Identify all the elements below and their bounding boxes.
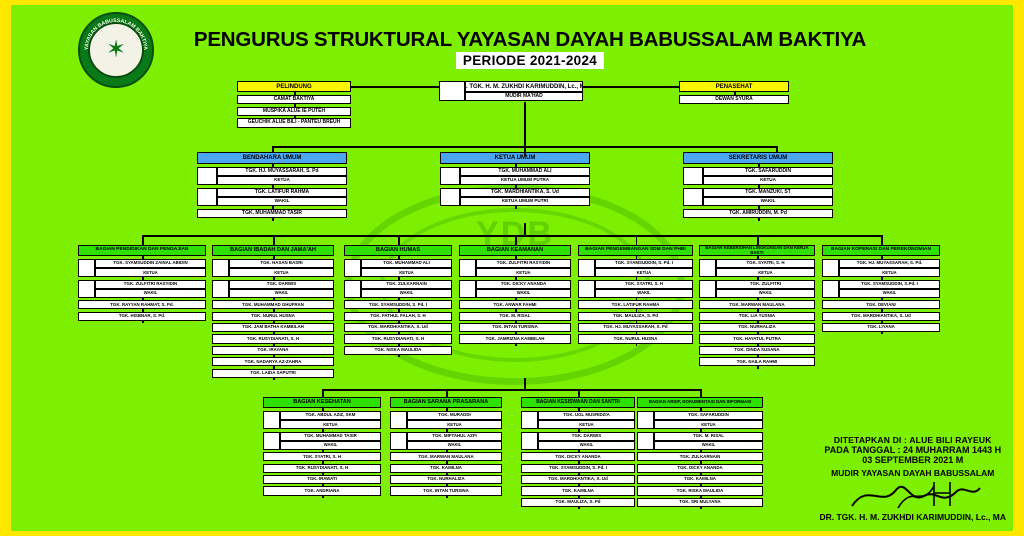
connector-line [322, 496, 324, 498]
dept-member: TGK. JAM BATHA KAMBILAH [212, 323, 334, 332]
dept-member: TGK. MAULIZA, S. Pd [578, 312, 693, 321]
dept-member-role: WAKIL [361, 289, 452, 298]
connector-line [273, 277, 275, 279]
connector-line [398, 321, 400, 323]
connector-line [398, 277, 400, 279]
dept-member-role: KETUA [361, 268, 452, 277]
connector-line [446, 461, 448, 463]
dept-member-name: TGK. MURADDI [407, 411, 502, 420]
tier2-member-role: KETUA [217, 176, 347, 185]
connector-line [515, 164, 517, 167]
connector-line [142, 235, 144, 245]
dept-brace [344, 259, 361, 277]
connector-line [636, 277, 638, 279]
pimpinan-name: DR. TGK. H. M. ZUKHDI KARIMUDDIN, Lc., M… [465, 81, 583, 92]
dept-brace [459, 259, 476, 277]
dept-member: TGK. RUSYDIANATI, S. H [212, 334, 334, 343]
dept-member-role: KETUA [407, 420, 502, 429]
dept-member: TGK. JAMRIZNA KAMBILAH [459, 334, 571, 343]
dept-header: BAGIAN PENDIDIKAN DAN PENGAJIAN [78, 245, 206, 256]
dept-member-name: TGK. MUHAMMAD TASIR [280, 432, 381, 441]
connector-line [757, 321, 759, 323]
connector-line [757, 298, 759, 300]
dept-member-name: TGK. SYATRI, S. H [595, 280, 693, 289]
dept-member-name: TGK. ZULFITRI [716, 280, 815, 289]
dept-header: BAGIAN ARSIP, DOKUMENTASI DAN INFORMASI [637, 397, 763, 408]
tier2-member-name: TGK. MARDHIANTIKA, S. Ud [460, 188, 590, 197]
frame-border-left [0, 0, 11, 536]
connector-line [142, 256, 144, 259]
connector-line [515, 235, 517, 245]
dept-header: BAGIAN KESISWAAN DAN SANTRI [521, 397, 635, 408]
dept-brace [78, 259, 95, 277]
tier2-header: KETUA UMUM [440, 152, 590, 164]
connector-line [515, 309, 517, 311]
dept-member: TGK. KAMILNA [390, 464, 502, 473]
dept-member: TGK. DICKY ANANDA [521, 452, 635, 461]
dept-member: TGK. IRAWATI [263, 475, 381, 484]
connector-line [583, 86, 679, 88]
dept-member: TGK. ANWAR FAHMI [459, 300, 571, 309]
tier2-brace [440, 188, 460, 206]
connector-line [322, 389, 324, 397]
tier2-member-name: TGK. MANZUKI, ST [703, 188, 833, 197]
connector-line [578, 484, 580, 486]
dept-member: TGK. DICKY ANANDA [637, 464, 763, 473]
dept-member: TGK. RUSYDIANATI, S. H [263, 464, 381, 473]
dept-member: TGK. DINDA SUSANA [699, 346, 815, 355]
connector-line [446, 429, 448, 431]
connector-line [322, 484, 324, 486]
connector-line [700, 408, 702, 411]
connector-line [446, 496, 448, 498]
dept-brace [263, 411, 280, 429]
tier2-brace [683, 188, 703, 206]
connector-line [757, 309, 759, 311]
frame-border-bottom [0, 531, 1024, 536]
dept-member-name: TGK. SYATRI, S. H [716, 259, 815, 268]
tier2-brace [197, 188, 217, 206]
dept-member-name: TGK. HASAN BASRI [229, 259, 334, 268]
dept-brace [459, 280, 476, 298]
dept-member: TGK. INTAN TURSINA [390, 486, 502, 495]
pimpinan-left-brace [439, 81, 465, 101]
connector-line [446, 484, 448, 486]
dept-brace [578, 280, 595, 298]
connector-line [446, 450, 448, 452]
dept-member: TGK. HJ. MUYASSARAH, S. Pd [578, 323, 693, 332]
dept-member: TGK. MARDHIANTIKA, S. Ud [822, 312, 940, 321]
frame-border-right [1013, 0, 1024, 536]
tier2-member: TGK. MUHAMMAD TASIR [197, 209, 347, 218]
footer-hijri-date: PADA TANGGAL : 24 MUHARRAM 1443 H [819, 445, 1006, 455]
dept-header: BAGIAN PENGEMBANGAN SDM DAN PHBI [578, 245, 693, 256]
dept-member-name: TGK. DARWIS [538, 432, 635, 441]
connector-line [351, 86, 439, 88]
dept-member-role: WAKIL [654, 441, 763, 450]
connector-line [700, 461, 702, 463]
footer-signature-block: DITETAPKAN DI : ALUE BILI RAYEUK PADA TA… [819, 435, 1006, 522]
dept-member-name: TGK. UGL MUSRIDZIA [538, 411, 635, 420]
dept-member: TGK. RUSYDIANATI, S. H [344, 334, 452, 343]
tier2-member-role: WAKIL [217, 197, 347, 206]
connector-line [700, 429, 702, 431]
dept-member-role: WAKIL [839, 289, 940, 298]
connector-line [294, 104, 296, 107]
tier2-member-name: TGK. SAFARUDDIN [703, 167, 833, 176]
connector-line [636, 256, 638, 259]
connector-line [398, 256, 400, 259]
dept-member: TGK. HAYATUL PUTRA [699, 334, 815, 343]
tier2-member: TGK. AMIRUDDIN, M. Pd [683, 209, 833, 218]
dept-member-name: TGK. ZULFITRI RASYIDIN [476, 259, 571, 268]
connector-line [294, 92, 296, 95]
connector-line [398, 332, 400, 334]
connector-line [700, 389, 702, 397]
dept-header: BAGIAN HUMAS [344, 245, 452, 256]
dept-member: TGK. NURHALIZA [390, 475, 502, 484]
connector-line [757, 277, 759, 279]
dept-member: TGK. FATHUL FALAH, S. H [344, 312, 452, 321]
connector-line [636, 235, 638, 245]
connector-line [398, 298, 400, 300]
dept-member-name: TGK. SYAMSUDDIN ZAINAL ABIDIN [95, 259, 206, 268]
dept-member: TGK. DEVIANI [822, 300, 940, 309]
dept-member-role: WAKIL [716, 289, 815, 298]
dept-member: TGK. SYAMSUDDIN, S. Pd. I [521, 464, 635, 473]
dept-member-name: TGK. SYAMSUDDIN, S. Pd. I [595, 259, 693, 268]
dept-member: TGK. NURHALIZA [699, 323, 815, 332]
connector-line [636, 298, 638, 300]
footer-signer-title: MUDIR YAYASAN DAYAH BABUSSALAM [819, 468, 1006, 478]
dept-member-role: KETUA [95, 268, 206, 277]
dept-member-role: KETUA [654, 420, 763, 429]
svg-text:JL. TGK. CHIK AWE GEUTAH: JL. TGK. CHIK AWE GEUTAH [88, 53, 143, 78]
connector-line [446, 408, 448, 411]
connector-line [757, 355, 759, 357]
dept-brace [822, 259, 839, 277]
connector-line [757, 366, 759, 368]
dept-brace [699, 280, 716, 298]
connector-line [322, 461, 324, 463]
connector-line [881, 309, 883, 311]
tier2-member-name: TGK. LATIFUR RAHMA [217, 188, 347, 197]
connector-line [758, 164, 760, 167]
page-subtitle: PERIODE 2021-2024 [456, 52, 604, 69]
dept-brace [212, 280, 229, 298]
dept-member-name: TGK. SAFARUDDIN [654, 411, 763, 420]
tier2-member-name: TGK. MUHAMMAD ALI [460, 167, 590, 176]
connector-line [881, 256, 883, 259]
dept-member: TGK. NURUL HUSNA [212, 312, 334, 321]
connector-line [636, 332, 638, 334]
connector-line [757, 235, 759, 245]
connector-line [142, 309, 144, 311]
connector-line [578, 461, 580, 463]
connector-line [142, 235, 882, 237]
connector-line [515, 321, 517, 323]
connector-line [273, 344, 275, 346]
connector-line [776, 146, 778, 152]
dept-header: BAGIAN IBADAH DAN JAMA'AH [212, 245, 334, 256]
dept-member: TGK. MARWAN MAULANA [699, 300, 815, 309]
dept-header: BAGIAN KEAMANAN [459, 245, 571, 256]
dept-member: TGK. MARWAN MAULANA [390, 452, 502, 461]
dept-member: TGK. M. RISAL [459, 312, 571, 321]
connector-line [273, 309, 275, 311]
dept-member: TGK. NISKA MAULIDA [344, 346, 452, 355]
dept-member: TGK. LAIDA SAPUTRI [212, 369, 334, 378]
connector-line [524, 223, 526, 235]
dept-brace [212, 259, 229, 277]
dept-brace [344, 280, 361, 298]
connector-line [273, 378, 275, 380]
dept-member: TGK. ZULKARNAIN [637, 452, 763, 461]
connector-line [578, 496, 580, 498]
tier2-member-role: KETUA UMUM PUTRA [460, 176, 590, 185]
tier2-brace [440, 167, 460, 185]
dept-member: TGK. MUHAMMAD GHUFRAN [212, 300, 334, 309]
connector-line [578, 408, 580, 411]
connector-line [515, 298, 517, 300]
connector-line [881, 277, 883, 279]
footer-signer-name: DR. TGK. H. M. ZUKHDI KARIMUDDIN, Lc., M… [819, 512, 1006, 522]
connector-line [636, 309, 638, 311]
connector-line [881, 332, 883, 334]
connector-line [398, 344, 400, 346]
dept-member: TGK. RAYYAN RAHMAT, S. Pd. [78, 300, 206, 309]
dept-member-name: TGK. ABDUL AZIZ, SKM [280, 411, 381, 420]
connector-line [272, 218, 274, 221]
dept-brace [578, 259, 595, 277]
connector-line [322, 389, 700, 391]
dept-member-role: KETUA [595, 268, 693, 277]
dept-header: BAGIAN KESEHATAN [263, 397, 381, 408]
dept-brace [822, 280, 839, 298]
dept-member-name: TGK. DARWIS [229, 280, 334, 289]
connector-line [515, 185, 517, 188]
connector-line [515, 344, 517, 346]
dept-member-role: WAKIL [595, 289, 693, 298]
dept-member-role: WAKIL [95, 289, 206, 298]
connector-line [578, 507, 580, 509]
connector-line [272, 146, 274, 152]
dept-member-role: KETUA [280, 420, 381, 429]
connector-line [273, 321, 275, 323]
tier2-member-role: KETUA [703, 176, 833, 185]
frame-border-top [0, 0, 1024, 5]
connector-line [578, 389, 580, 397]
connector-line [322, 429, 324, 431]
connector-line [757, 256, 759, 259]
dept-brace [521, 432, 538, 450]
connector-line [142, 321, 144, 323]
tier2-brace [683, 167, 703, 185]
dept-brace [78, 280, 95, 298]
dept-member-role: KETUA [716, 268, 815, 277]
dept-member: TGK. NADARYA AZ-ZAHRA [212, 357, 334, 366]
dept-member: TGK. ANDRIANA [263, 486, 381, 495]
connector-line [273, 355, 275, 357]
tier2-header: SEKRETARIS UMUM [683, 152, 833, 164]
dept-member: TGK. HISBNAR, S. Pd. [78, 312, 206, 321]
connector-line [734, 92, 736, 95]
connector-line [398, 309, 400, 311]
dept-brace [263, 432, 280, 450]
connector-line [294, 115, 296, 118]
connector-line [700, 496, 702, 498]
connector-line [272, 206, 274, 209]
dept-member-name: TGK. SYAMSUDDIN, S.Pd. I [839, 280, 940, 289]
connector-line [578, 429, 580, 431]
connector-line [578, 473, 580, 475]
svg-text:YAYASAN BABUSSALAM BAKTIYA: YAYASAN BABUSSALAM BAKTIYA [84, 18, 148, 51]
signature-mark [819, 478, 1006, 512]
dept-member: TGK. MAULIZA, S. Pd [521, 498, 635, 507]
dept-header: BAGIAN SARANA PRASARANA [390, 397, 502, 408]
dept-member: TGK. MARDHIANTIKA, S. Ud [521, 475, 635, 484]
dept-member: TGK. SYATRI, S. H [263, 452, 381, 461]
connector-line [757, 332, 759, 334]
org-chart-canvas: YDB ✶ YAYASAN BABUSSALAM BAKTIYA JL. TGK… [0, 0, 1024, 536]
dept-brace [390, 432, 407, 450]
dept-brace [637, 432, 654, 450]
dept-header: BAGIAN KOPERASI DAN PEREKONOMIAN [822, 245, 940, 256]
dept-member: TGK. NAILA RAHMI [699, 357, 815, 366]
connector-line [273, 256, 275, 259]
connector-line [700, 484, 702, 486]
connector-line [273, 332, 275, 334]
pelindung-item: GEUCHIK ALUE BILI - PANTEU BREUH [237, 118, 351, 127]
tier2-member-name: TGK. HJ. MUYASSARAH, S. Pd [217, 167, 347, 176]
dept-member-name: TGK. ZULKARNAIN [361, 280, 452, 289]
connector-line [272, 185, 274, 188]
connector-line [524, 378, 526, 389]
connector-line [636, 344, 638, 346]
page-subtitle-wrap: PERIODE 2021-2024 [150, 52, 910, 70]
dept-member-name: TGK. DICKY ANANDA [476, 280, 571, 289]
dept-member: TGK. NURUL HUSNA [578, 334, 693, 343]
dept-member-role: KETUA [476, 268, 571, 277]
dept-member: TGK. SYAMSUDDIN, S. Pd. I [344, 300, 452, 309]
connector-line [524, 146, 526, 152]
connector-line [322, 450, 324, 452]
connector-line [515, 206, 517, 209]
connector-line [322, 408, 324, 411]
dept-member-role: KETUA [839, 268, 940, 277]
dept-member: TGK. LIYANA [822, 323, 940, 332]
tier2-member-role: WAKIL [703, 197, 833, 206]
connector-line [881, 321, 883, 323]
pimpinan-role: MUDIR MA'HAD [465, 92, 583, 101]
dept-brace [521, 411, 538, 429]
connector-line [273, 366, 275, 368]
tier2-brace [197, 167, 217, 185]
dept-member: TGK. LATIFUR RAHMA [578, 300, 693, 309]
dept-brace [637, 411, 654, 429]
dept-member: TGK. MARDHIANTIKA, S. Ud [344, 323, 452, 332]
connector-line [700, 507, 702, 509]
dept-member-role: WAKIL [476, 289, 571, 298]
dept-member-name: TGK. MIFTAHUL AZFI [407, 432, 502, 441]
dept-member: TGK. RISKA MAULIDA [637, 486, 763, 495]
dept-member-role: KETUA [538, 420, 635, 429]
dept-member-name: TGK. HJ. MUYASSARAH, S. Pd. [839, 259, 940, 268]
footer-place: DITETAPKAN DI : ALUE BILI RAYEUK [819, 435, 1006, 445]
dept-member: TGK. KAMILNA [521, 486, 635, 495]
dept-member-role: WAKIL [407, 441, 502, 450]
connector-line [142, 277, 144, 279]
penasehat-item: DEWAN SYURA [679, 95, 789, 104]
dept-member-role: WAKIL [229, 289, 334, 298]
dept-member-name: TGK. M. RISAL [654, 432, 763, 441]
footer-gregorian-date: 03 SEPTEMBER 2021 M [819, 455, 1006, 465]
dept-member-name: TGK. ZULFITRI RASYIDIN [95, 280, 206, 289]
dept-member-role: KETUA [229, 268, 334, 277]
connector-line [398, 355, 400, 357]
penasehat-header: PENASEHAT [679, 81, 789, 92]
connector-line [273, 235, 275, 245]
dept-member-name: TGK. MUHAMMAD ALI [361, 259, 452, 268]
connector-line [636, 321, 638, 323]
organization-logo: ✶ YAYASAN BABUSSALAM BAKTIYA JL. TGK. CH… [78, 12, 154, 88]
dept-member: TGK. IRAYANA [212, 346, 334, 355]
dept-member: TGK. INTAN TURSINA [459, 323, 571, 332]
pelindung-header: PELINDUNG [237, 81, 351, 92]
dept-brace [699, 259, 716, 277]
dept-member: TGK. LIA YUSNIA [699, 312, 815, 321]
connector-line [758, 218, 760, 221]
connector-line [700, 473, 702, 475]
connector-line [142, 298, 144, 300]
dept-header: BAGIAN KEBERSIHAN LINGKUNGAN DAN KERJA B… [699, 245, 815, 256]
connector-line [515, 332, 517, 334]
connector-line [322, 473, 324, 475]
connector-line [446, 389, 448, 397]
dept-member-role: WAKIL [538, 441, 635, 450]
connector-line [881, 298, 883, 300]
page-title: PENGURUS STRUKTURAL YAYASAN DAYAH BABUSS… [150, 28, 910, 52]
connector-line [273, 298, 275, 300]
connector-line [515, 256, 517, 259]
connector-line [578, 450, 580, 452]
connector-line [700, 450, 702, 452]
tier2-header: BENDAHARA UMUM [197, 152, 347, 164]
dept-member: TGK. SRI MULYANA [637, 498, 763, 507]
connector-line [881, 235, 883, 245]
dept-member-role: WAKIL [280, 441, 381, 450]
dept-brace [390, 411, 407, 429]
connector-line [515, 277, 517, 279]
connector-line [757, 344, 759, 346]
dept-member: TGK. KAMILNA [637, 475, 763, 484]
connector-line [758, 185, 760, 188]
connector-line [398, 235, 400, 245]
connector-line [446, 473, 448, 475]
connector-line [272, 164, 274, 167]
connector-line [758, 206, 760, 209]
tier2-member-role: KETUA UMUM PUTRI [460, 197, 590, 206]
logo-ring-text: YAYASAN BABUSSALAM BAKTIYA JL. TGK. CHIK… [80, 14, 152, 86]
